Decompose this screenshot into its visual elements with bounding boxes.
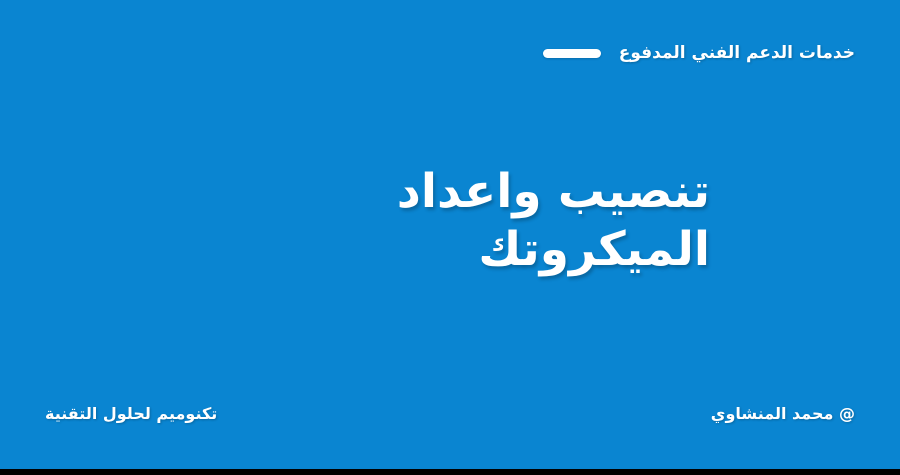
title-line-1: تنصيب واعداد [190, 163, 710, 221]
footer-company-name: تكنوميم لحلول التقنية [45, 404, 217, 423]
footer-author-handle: @ محمد المنشاوي [711, 404, 855, 423]
pill-dash-icon [543, 49, 601, 58]
slide-title: تنصيب واعداد الميكروتك [190, 163, 710, 279]
header-label: خدمات الدعم الفني المدفوع [619, 43, 855, 63]
slide-header: خدمات الدعم الفني المدفوع [543, 43, 855, 63]
title-line-2: الميكروتك [190, 221, 710, 279]
bottom-divider-strip [0, 469, 900, 475]
presentation-title-slide: خدمات الدعم الفني المدفوع تنصيب واعداد ا… [0, 0, 900, 475]
